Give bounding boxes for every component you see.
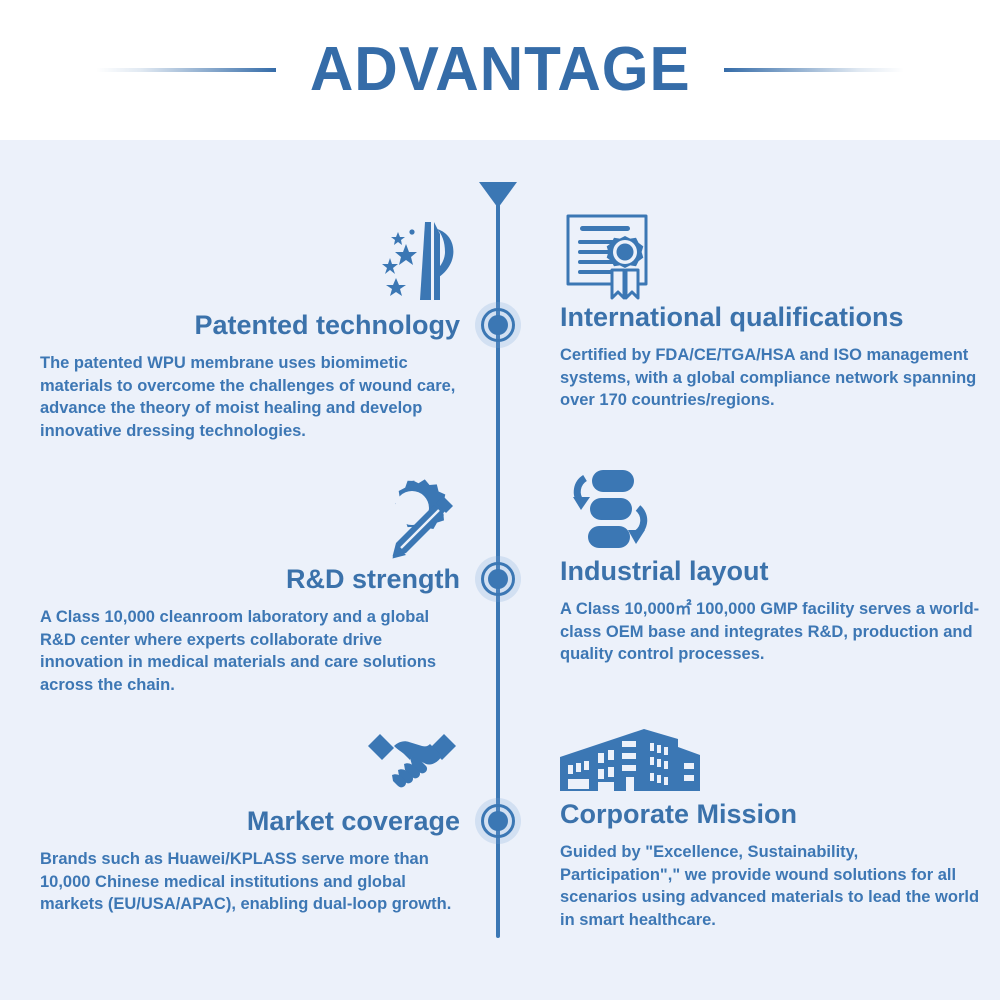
page-header: ADVANTAGE: [0, 0, 1000, 140]
block-body: A Class 10,000 cleanroom laboratory and …: [40, 606, 460, 696]
title-rule-left: [96, 68, 276, 72]
block-heading: Corporate Mission: [560, 797, 980, 831]
block-heading: Industrial layout: [560, 554, 980, 588]
block-body: The patented WPU membrane uses biomimeti…: [40, 352, 460, 442]
factory-building-icon: [560, 705, 980, 797]
block-industrial-layout: Industrial layout A Class 10,000㎡ 100,00…: [560, 462, 980, 666]
block-heading: Patented technology: [40, 308, 460, 342]
block-international-qualifications: International qualifications Certified b…: [560, 208, 980, 412]
certificate-award-icon: [560, 208, 980, 300]
patent-monument-stars-icon: [40, 216, 460, 308]
block-heading: R&D strength: [40, 562, 460, 596]
node-dot: [488, 811, 508, 831]
block-body: Brands such as Huawei/KPLASS serve more …: [40, 848, 460, 916]
process-flow-icon: [560, 462, 980, 554]
node-dot: [488, 315, 508, 335]
block-body: Certified by FDA/CE/TGA/HSA and ISO mana…: [560, 344, 980, 412]
content-board: Patented technology The patented WPU mem…: [0, 140, 1000, 1000]
block-rd-strength: R&D strength A Class 10,000 cleanroom la…: [40, 470, 460, 696]
block-heading: Market coverage: [40, 804, 460, 838]
handshake-icon: [40, 712, 460, 804]
block-corporate-mission: Corporate Mission Guided by "Excellence,…: [560, 705, 980, 931]
block-body: Guided by "Excellence, Sustainability, P…: [560, 841, 980, 931]
block-heading: International qualifications: [560, 300, 980, 334]
timeline-node-3: [475, 798, 521, 844]
block-patented-technology: Patented technology The patented WPU mem…: [40, 216, 460, 442]
title-rule-right: [724, 68, 904, 72]
page-title: ADVANTAGE: [310, 39, 691, 101]
timeline-node-2: [475, 556, 521, 602]
node-dot: [488, 569, 508, 589]
gear-pencil-icon: [40, 470, 460, 562]
infographic-page: ADVANTAGE: [0, 0, 1000, 1000]
block-body: A Class 10,000㎡ 100,000 GMP facility ser…: [560, 598, 980, 666]
timeline-node-1: [475, 302, 521, 348]
block-market-coverage: Market coverage Brands such as Huawei/KP…: [40, 712, 460, 916]
